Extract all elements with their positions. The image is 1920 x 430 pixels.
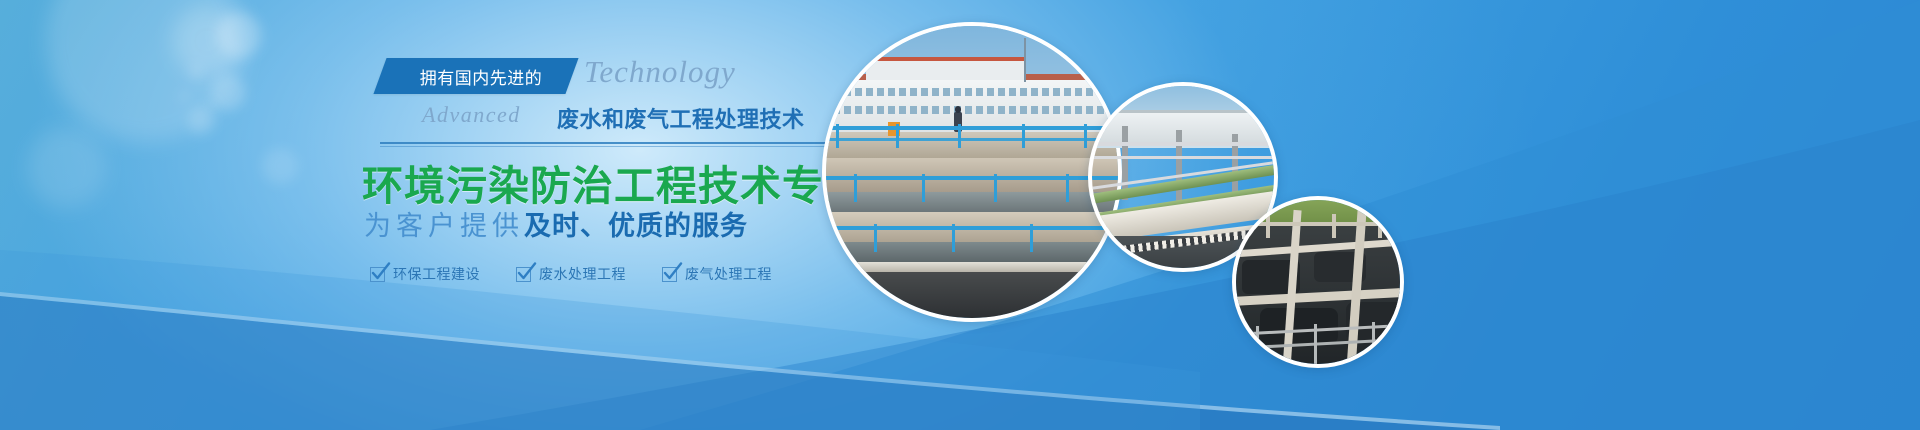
tagline-row: 拥有国内先进的 Technology [352,56,852,96]
bokeh-circle [172,6,242,76]
subtitle-row: Advanced 废水和废气工程处理技术 [352,98,852,134]
bokeh-circle [216,12,262,58]
photo-sludge-pond-small [1232,196,1404,368]
subtitle-script-word: Advanced [422,102,521,128]
tagline-script-word: Technology [584,54,736,90]
checkbox-checked-icon [662,267,677,282]
sub-headline: 为客户提供及时、优质的服务 [364,204,748,243]
bokeh-circle [210,100,217,107]
list-item: 环保工程建设 [370,264,480,284]
bokeh-circle [262,148,298,184]
subtitle-text: 废水和废气工程处理技术 [557,102,805,134]
checkbox-checked-icon [370,267,385,282]
list-item: 废气处理工程 [662,264,772,284]
list-item-label: 废气处理工程 [685,264,772,284]
divider-double-rule [380,142,852,146]
sub-headline-strong: 及时、优质的服务 [524,211,748,241]
bokeh-circle [46,0,246,142]
checkbox-checked-icon [516,267,531,282]
bokeh-circle [188,108,214,134]
hero-banner: 拥有国内先进的 Technology Advanced 废水和废气工程处理技术 … [0,0,1920,430]
sub-headline-light: 为客户提供 [364,211,524,241]
list-item-label: 废水处理工程 [539,264,626,284]
bokeh-circle [212,76,246,110]
bokeh-circle [26,128,106,208]
list-item-label: 环保工程建设 [393,264,480,284]
photo-sedimentation-tank-large [822,22,1122,322]
bokeh-circle [190,66,201,77]
tagline-badge-label: 拥有国内先进的 [396,58,566,94]
feature-check-list: 环保工程建设 废水处理工程 废气处理工程 [370,264,772,284]
headline-copy-block: 拥有国内先进的 Technology Advanced 废水和废气工程处理技术 … [352,56,852,306]
bokeh-circle [180,92,188,100]
list-item: 废水处理工程 [516,264,626,284]
